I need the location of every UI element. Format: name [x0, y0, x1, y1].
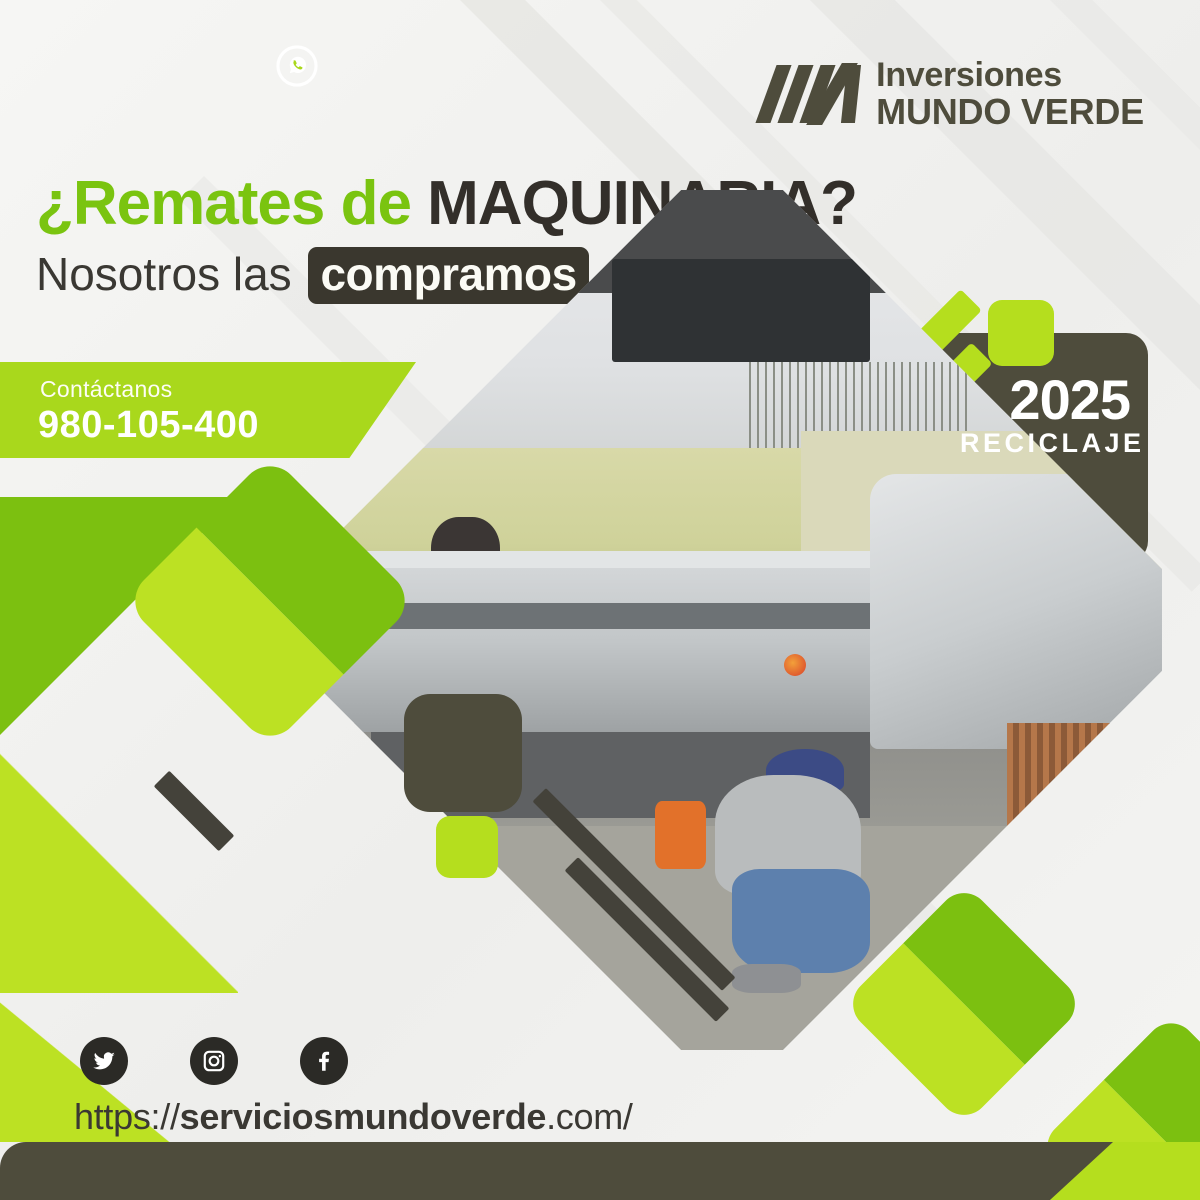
year-subtitle: RECICLAJE	[960, 430, 1130, 457]
instagram-icon[interactable]	[190, 1037, 238, 1085]
year-panel-green-square	[988, 300, 1054, 366]
headline-green-text: ¿Remates de	[36, 169, 427, 238]
twitter-icon[interactable]	[80, 1037, 128, 1085]
compramos-badge: compramos	[308, 247, 588, 303]
social-links	[80, 1037, 348, 1085]
brand-line-2: MUNDO VERDE	[876, 94, 1144, 130]
mundo-verde-logo-mark	[764, 65, 860, 123]
facebook-icon[interactable]	[300, 1037, 348, 1085]
decor-dark-rounded-square	[404, 694, 522, 812]
contact-label: Contáctanos	[40, 376, 172, 403]
promo-poster: Inversiones MUNDO VERDE ¿Remates de MAQU…	[0, 0, 1200, 1200]
subhead-prefix: Nosotros las	[36, 248, 304, 300]
contact-banner[interactable]: Contáctanos 980-105-400	[0, 362, 416, 458]
url-domain: serviciosmundoverde	[180, 1096, 546, 1137]
url-suffix: .com/	[546, 1096, 633, 1137]
brand-logo[interactable]: Inversiones MUNDO VERDE	[764, 58, 1144, 130]
brand-line-1: Inversiones	[876, 58, 1144, 92]
footer-bar	[0, 1142, 1200, 1200]
brand-logo-text: Inversiones MUNDO VERDE	[876, 58, 1144, 130]
whatsapp-icon[interactable]	[276, 45, 318, 87]
year-number: 2025	[960, 372, 1130, 428]
decor-green-rounded-square	[436, 816, 498, 878]
contact-phone[interactable]: 980-105-400	[38, 404, 259, 447]
decor-triangle-green-bright	[0, 745, 238, 993]
url-prefix: https://	[74, 1096, 180, 1137]
website-url[interactable]: https://serviciosmundoverde.com/	[74, 1096, 633, 1138]
year-badge: 2025 RECICLAJE	[960, 372, 1130, 457]
